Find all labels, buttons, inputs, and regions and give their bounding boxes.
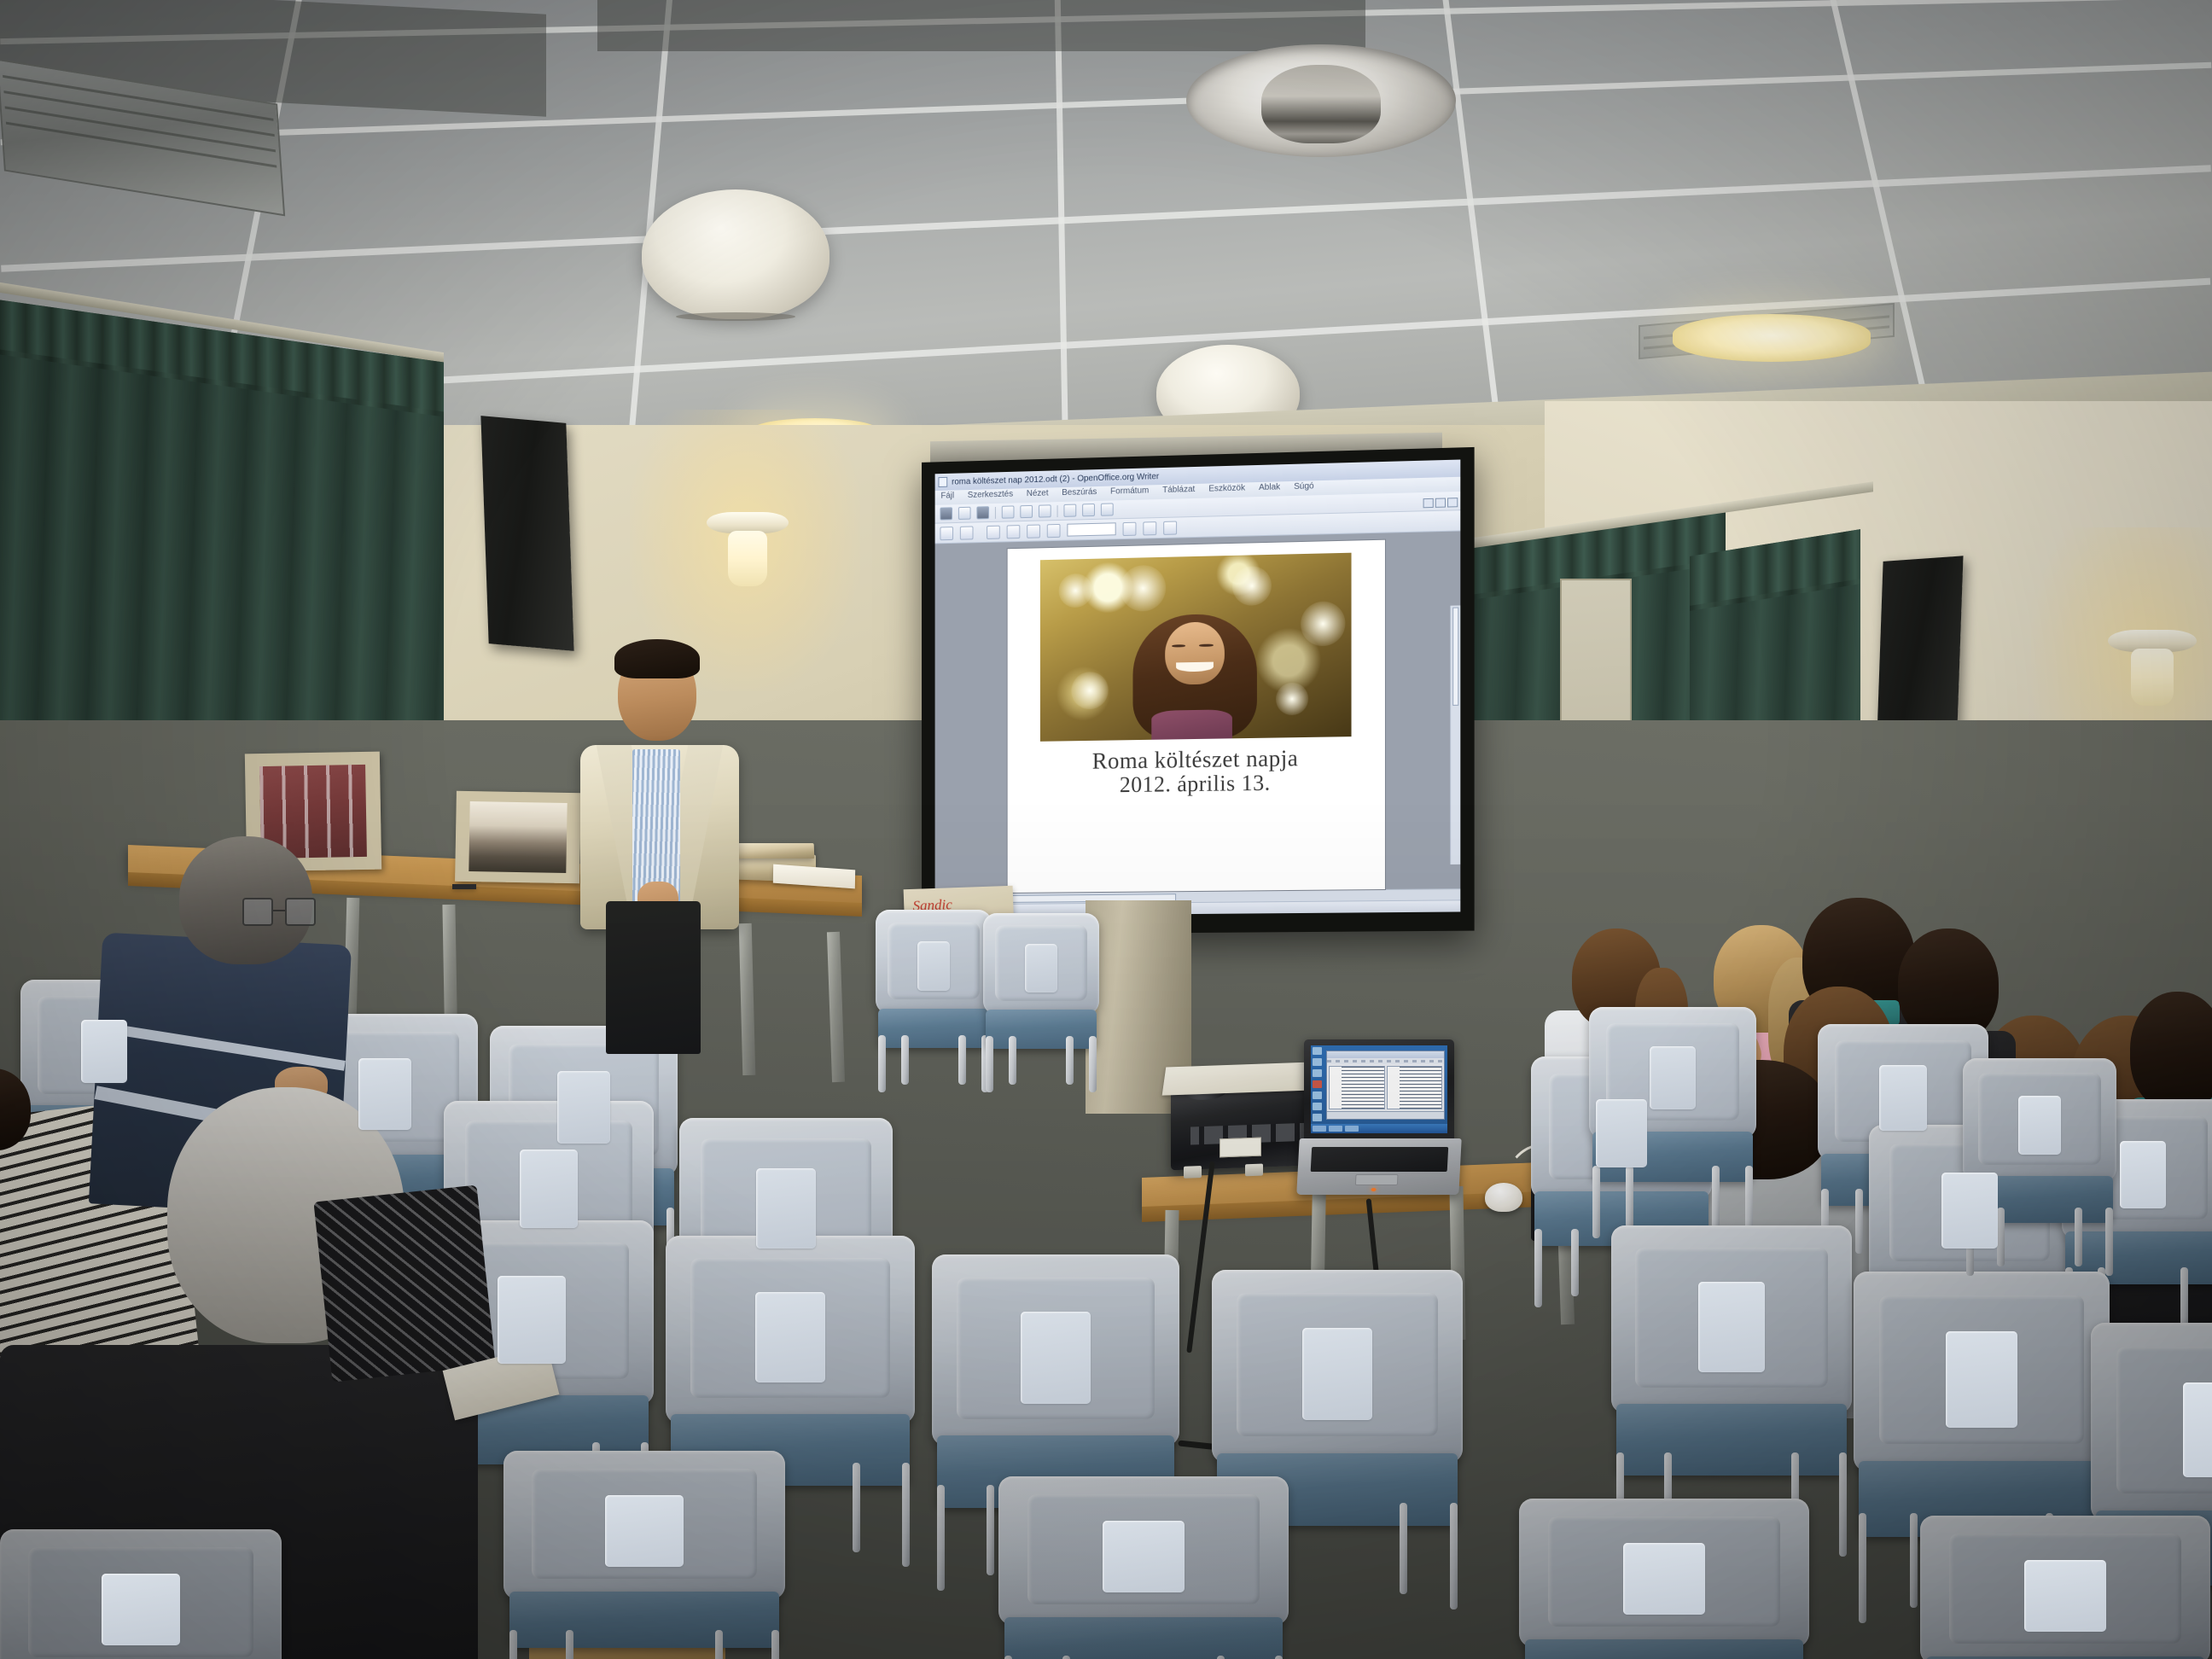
line-tool-icon[interactable] <box>1063 504 1076 517</box>
chair-front-row-0[interactable] <box>0 1529 282 1659</box>
hair <box>614 639 699 678</box>
desktop-icon-7[interactable] <box>1313 1114 1322 1121</box>
file-manager-title-bar <box>1327 1051 1444 1058</box>
file-pane-right[interactable] <box>1387 1066 1443 1109</box>
power-led-icon <box>1371 1189 1377 1192</box>
print-icon[interactable] <box>1020 505 1033 518</box>
chair-front-row-4[interactable] <box>1920 1516 2210 1659</box>
vertical-scrollbar[interactable] <box>1450 605 1460 864</box>
windows-taskbar[interactable] <box>1311 1124 1447 1133</box>
menu-item-file[interactable]: Fájl <box>940 491 954 504</box>
file-manager-window[interactable] <box>1326 1051 1445 1120</box>
panel-light-right-upper <box>1673 314 1871 362</box>
menu-item-insert[interactable]: Beszúrás <box>1062 487 1097 501</box>
save-icon[interactable] <box>976 506 989 519</box>
chair-back <box>998 1476 1289 1625</box>
glasses-icon <box>241 898 317 926</box>
chair-back <box>0 1529 282 1659</box>
desktop-icon-2[interactable] <box>1313 1058 1322 1066</box>
chair-back <box>932 1254 1179 1446</box>
menu-item-help[interactable]: Súgó <box>1294 481 1313 495</box>
projector-foot-center <box>1245 1164 1263 1176</box>
presentation-laptop[interactable] <box>1304 1039 1454 1195</box>
laptop-touchpad[interactable] <box>1355 1174 1398 1185</box>
paper-globe-lamp-left <box>642 189 829 319</box>
chair-legs <box>983 1036 1099 1092</box>
taskbar-item-2[interactable] <box>1345 1126 1359 1132</box>
menu-item-edit[interactable]: Szerkesztés <box>968 490 1013 504</box>
wall-sconce-right <box>2108 630 2197 703</box>
file-manager-toolbar <box>1327 1058 1444 1064</box>
desktop-icon-4[interactable] <box>1313 1080 1322 1088</box>
slide-photograph <box>1040 553 1351 742</box>
align-right-icon[interactable] <box>1027 524 1040 538</box>
chair-back <box>1611 1225 1852 1413</box>
pen-on-table <box>452 884 476 889</box>
shawl-on-chair <box>313 1185 495 1382</box>
chair-legs <box>998 1656 1289 1659</box>
export-pdf-icon[interactable] <box>1002 505 1015 518</box>
chair-front-row-1[interactable] <box>504 1451 785 1659</box>
photo-subject-face <box>1165 621 1224 684</box>
recessed-downlight-ceiling <box>1186 44 1456 157</box>
open-folder-icon[interactable] <box>958 507 971 520</box>
start-button[interactable] <box>1313 1126 1326 1132</box>
rotate-icon[interactable] <box>1143 521 1156 535</box>
chair-back <box>1920 1516 2210 1659</box>
chair-front-row-3[interactable] <box>1519 1499 1809 1659</box>
menu-item-view[interactable]: Nézet <box>1027 489 1049 503</box>
magnifier-icon[interactable] <box>1123 521 1137 535</box>
chair-seat <box>1525 1639 1803 1659</box>
chair-back <box>2091 1323 2212 1521</box>
conference-room-photo: roma költészet nap 2012.odt (2) - OpenOf… <box>0 0 2212 1659</box>
menu-item-tools[interactable]: Eszközök <box>1208 483 1245 497</box>
align-center-icon[interactable] <box>1007 525 1021 538</box>
document-icon <box>938 477 947 487</box>
desktop-icon-6[interactable] <box>1313 1103 1322 1110</box>
desktop-icons[interactable] <box>1313 1047 1324 1123</box>
projector-foot-left <box>1184 1166 1202 1178</box>
laptop-base <box>1296 1138 1462 1195</box>
chair-seat <box>1004 1617 1283 1659</box>
new-document-icon[interactable] <box>940 507 952 520</box>
laptop-lid <box>1304 1039 1454 1142</box>
crop-icon[interactable] <box>1163 521 1177 534</box>
zoom-field[interactable] <box>1067 522 1115 536</box>
wall-speaker-left <box>480 416 573 651</box>
taskbar-item-1[interactable] <box>1329 1126 1342 1132</box>
vertical-scrollbar-thumb[interactable] <box>1452 608 1458 706</box>
projector-label <box>1220 1138 1261 1157</box>
maximize-icon[interactable] <box>1435 498 1446 507</box>
chair-back <box>1519 1499 1809 1647</box>
print-preview-icon[interactable] <box>1039 504 1051 517</box>
undo-icon[interactable] <box>940 527 953 540</box>
chair-back <box>1212 1270 1463 1463</box>
document-page: Roma költészet napja 2012. április 13. <box>1007 540 1385 893</box>
chair-legs <box>504 1630 785 1659</box>
slide-title-line-2: 2012. április 13. <box>1016 770 1377 799</box>
laptop-screen[interactable] <box>1311 1045 1447 1133</box>
close-icon[interactable] <box>1447 498 1458 507</box>
wall-sconce-left <box>707 512 789 584</box>
chair-back <box>666 1236 915 1423</box>
chair-legs <box>876 1035 992 1092</box>
person-presenter <box>580 649 739 1050</box>
chair-back <box>504 1451 785 1599</box>
projected-image: roma költészet nap 2012.odt (2) - OpenOf… <box>935 460 1461 917</box>
toolbar-separator <box>995 507 996 519</box>
menu-item-window[interactable]: Ablak <box>1259 482 1280 496</box>
stacked-old-books-2 <box>736 843 815 859</box>
projection-screen: roma költészet nap 2012.odt (2) - OpenOf… <box>922 447 1475 934</box>
redo-icon[interactable] <box>960 526 974 539</box>
chair-back <box>876 910 992 1014</box>
window-controls <box>1423 498 1458 508</box>
toolbar-separator-2 <box>1057 505 1058 517</box>
rectangle-tool-icon[interactable] <box>1101 503 1114 515</box>
document-area: Roma költészet napja 2012. április 13. <box>935 531 1461 893</box>
zoom-icon[interactable] <box>1047 523 1061 537</box>
desktop-icon-1[interactable] <box>1313 1047 1322 1055</box>
minimize-icon[interactable] <box>1423 498 1434 508</box>
slide-title-line-1: Roma költészet napja <box>1092 745 1299 774</box>
laptop-keyboard[interactable] <box>1311 1148 1448 1173</box>
chair-back-left-2[interactable] <box>983 913 1099 1089</box>
trousers-clothing <box>606 901 701 1054</box>
chair-back <box>1854 1272 2110 1471</box>
photo-subject-clothing <box>1151 709 1232 740</box>
menu-item-table[interactable]: Táblázat <box>1162 485 1195 498</box>
desktop-icon-5[interactable] <box>1313 1091 1322 1099</box>
arrow-tool-icon[interactable] <box>1082 504 1095 516</box>
chair-back <box>1963 1058 2116 1182</box>
file-pane-left[interactable] <box>1329 1066 1385 1109</box>
align-left-icon[interactable] <box>987 525 1000 538</box>
file-manager-panes <box>1327 1064 1444 1111</box>
chair-front-row-2[interactable] <box>998 1476 1289 1659</box>
framed-landscape-photo <box>455 791 581 884</box>
desktop-icon-3[interactable] <box>1313 1069 1322 1077</box>
head <box>618 649 696 741</box>
head <box>179 836 312 964</box>
chair-back-left-1[interactable] <box>876 910 992 1089</box>
file-manager-command-line[interactable] <box>1327 1111 1444 1119</box>
menu-item-format[interactable]: Formátum <box>1110 486 1149 499</box>
chair-back <box>983 913 1099 1015</box>
window-title: roma költészet nap 2012.odt (2) - OpenOf… <box>952 472 1159 486</box>
head <box>2130 992 2212 1111</box>
slide-title: Roma költészet napja 2012. április 13. <box>1016 745 1377 799</box>
